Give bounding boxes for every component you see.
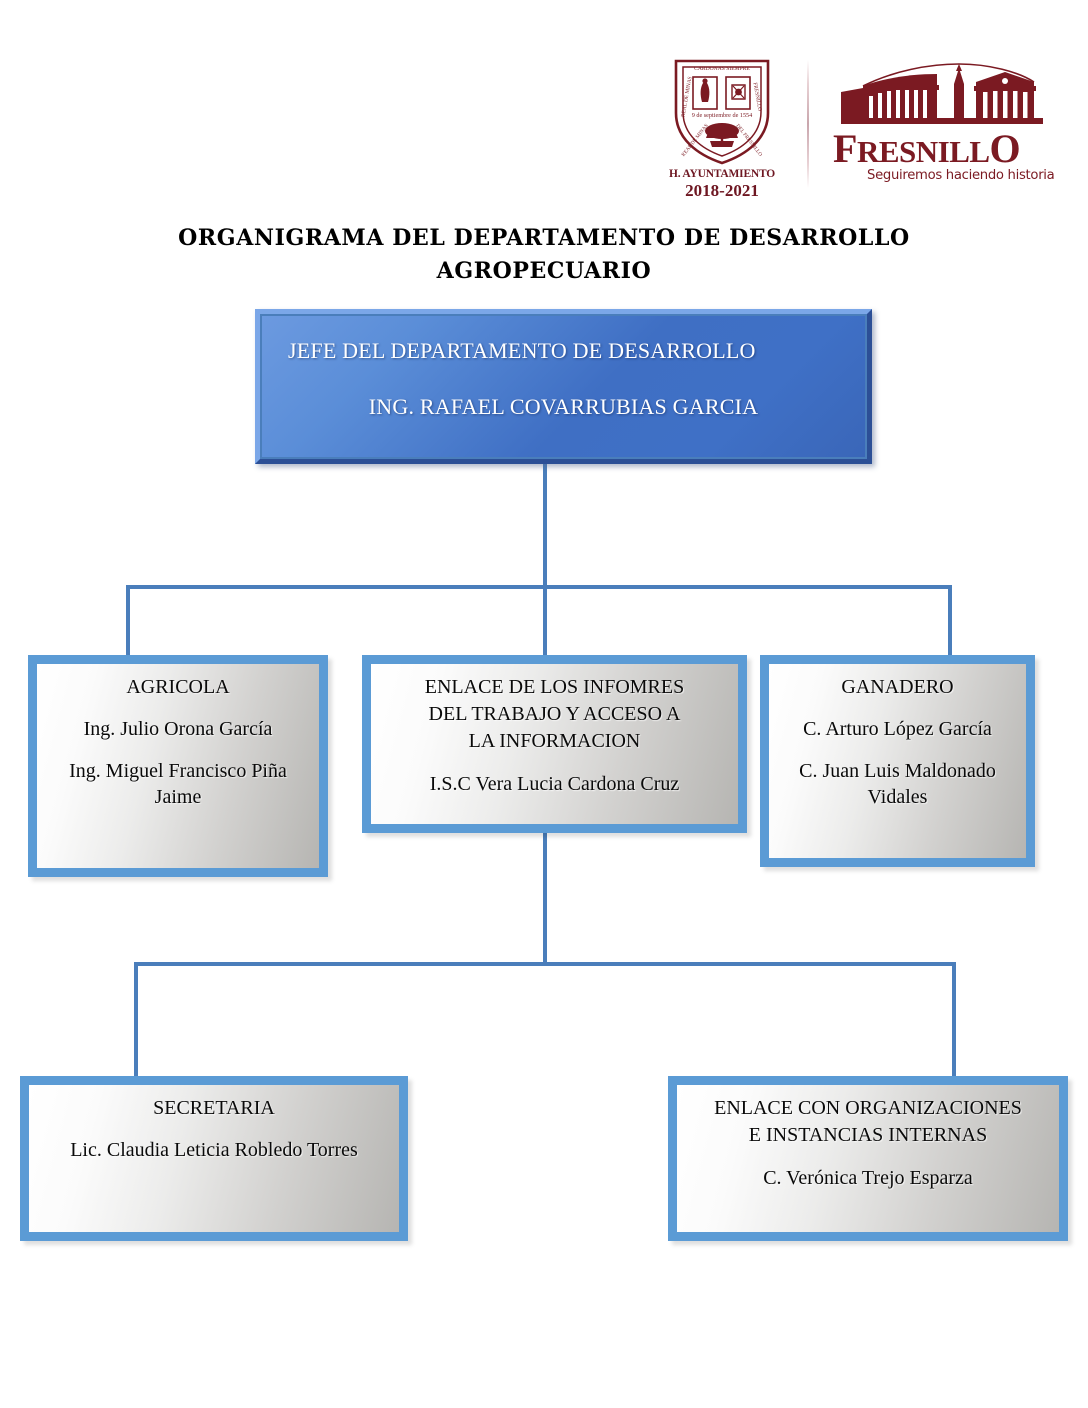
org-node-person-1: Lic. Claudia Leticia Robledo Torres xyxy=(37,1137,391,1163)
org-node-person: ING. RAFAEL COVARRUBIAS GARCIA xyxy=(288,392,839,422)
page-title: ORGANIGRAMA DEL DEPARTAMENTO DE DESARROL… xyxy=(94,222,994,288)
connector-level2-bus xyxy=(134,962,956,966)
org-node-jefe-departamento[interactable]: JEFE DEL DEPARTAMENTO DE DESARROLLO ING.… xyxy=(255,309,872,464)
org-node-role: AGRICOLA xyxy=(45,674,311,700)
fresnillo-tagline: Seguiremos haciendo historia xyxy=(867,168,1065,183)
connector-root-stem xyxy=(543,464,547,588)
connector-to-enlace-organizaciones xyxy=(952,962,956,1076)
logo-divider xyxy=(807,60,809,188)
svg-text:CARDONAS SIEMPRE: CARDONAS SIEMPRE xyxy=(694,66,750,72)
fresnillo-brand-logo: FRESNILLO Seguiremos haciendo historia xyxy=(833,62,1065,190)
connector-enlace-informes-stem xyxy=(543,833,547,965)
org-node-person-2: C. Juan Luis Maldonado Vidales xyxy=(777,758,1018,810)
org-node-enlace-organizaciones[interactable]: ENLACE CON ORGANIZACIONES E INSTANCIAS I… xyxy=(668,1076,1068,1241)
connector-to-secretaria xyxy=(134,962,138,1076)
crest-caption-years: 2018-2021 xyxy=(662,181,782,200)
org-node-person-1: Ing. Julio Orona García xyxy=(45,716,311,742)
org-node-person-1: C. Verónica Trejo Esparza xyxy=(685,1165,1051,1191)
fresnillo-monument-icon xyxy=(833,62,1065,132)
org-node-role: GANADERO xyxy=(777,674,1018,700)
municipal-crest-logo: 9 de septiembre de 1554 REAL DE MINAS FR… xyxy=(662,55,782,200)
org-node-ganadero[interactable]: GANADERO C. Arturo López García C. Juan … xyxy=(760,655,1035,867)
org-node-role: SECRETARIA xyxy=(37,1095,391,1121)
org-node-agricola[interactable]: AGRICOLA Ing. Julio Orona García Ing. Mi… xyxy=(28,655,328,877)
org-node-role-line-2: DEL TRABAJO Y ACCESO A xyxy=(379,701,730,728)
connector-level1-bus xyxy=(126,585,952,589)
org-node-person-2: Ing. Miguel Francisco Piña Jaime xyxy=(45,758,311,810)
page-title-line2: AGROPECUARIO xyxy=(94,255,994,288)
org-node-role-line-1: ENLACE DE LOS INFOMRES xyxy=(379,674,730,701)
connector-to-enlace-informes xyxy=(543,585,547,657)
svg-text:9 de septiembre de 1554: 9 de septiembre de 1554 xyxy=(692,112,752,119)
org-node-role: JEFE DEL DEPARTAMENTO DE DESARROLLO xyxy=(288,336,839,366)
org-node-person-1: I.S.C Vera Lucia Cardona Cruz xyxy=(379,771,730,797)
org-node-role-line-3: LA INFORMACION xyxy=(379,728,730,755)
org-node-person-1: C. Arturo López García xyxy=(777,716,1018,742)
page-title-line1: ORGANIGRAMA DEL DEPARTAMENTO DE DESARROL… xyxy=(94,222,994,255)
org-node-role-line-1: ENLACE CON ORGANIZACIONES xyxy=(685,1095,1051,1122)
connector-to-agricola xyxy=(126,585,130,657)
fresnillo-wordmark: FRESNILLO xyxy=(833,128,1065,170)
crest-caption-ayuntamiento: H. AYUNTAMIENTO xyxy=(662,168,782,181)
connector-to-ganadero xyxy=(948,585,952,657)
coat-of-arms-shield-icon: 9 de septiembre de 1554 REAL DE MINAS FR… xyxy=(666,55,778,167)
org-node-enlace-informes[interactable]: ENLACE DE LOS INFOMRES DEL TRABAJO Y ACC… xyxy=(362,655,747,833)
org-node-role-line-2: E INSTANCIAS INTERNAS xyxy=(685,1122,1051,1149)
header-logos: 9 de septiembre de 1554 REAL DE MINAS FR… xyxy=(0,0,1088,205)
org-node-secretaria[interactable]: SECRETARIA Lic. Claudia Leticia Robledo … xyxy=(20,1076,408,1241)
